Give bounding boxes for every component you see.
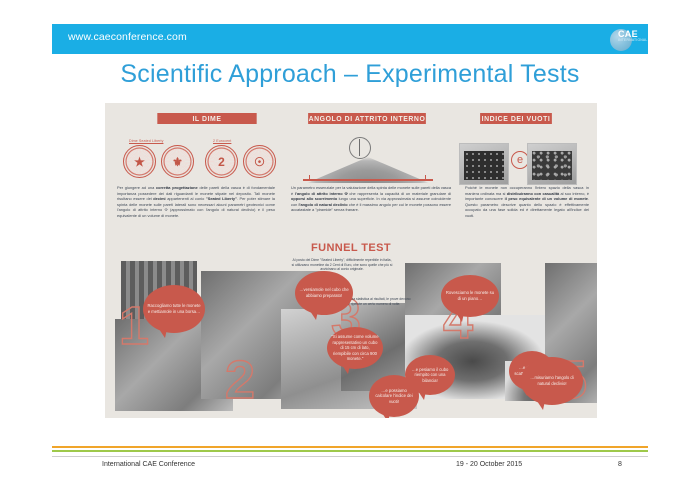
- section-heading-angolo: ANGOLO DI ATTRITO INTERNO: [308, 113, 426, 124]
- coin-2cent-reverse-icon: ☉: [243, 145, 276, 178]
- coin-icon-row: Dime Seated Liberty 2 Eurocent ★ ⚜ 2 ☉: [117, 139, 285, 179]
- ordered-coins-box: [459, 143, 509, 185]
- coin-dime-reverse-icon: ⚜: [161, 145, 194, 178]
- random-coins-box: [527, 143, 577, 185]
- funnel-bubble-6: …e pesiamo il cubo riempito con una bila…: [405, 355, 455, 395]
- void-index-graphic: e: [453, 135, 585, 191]
- coin-cone-graphic: [297, 137, 437, 187]
- coin-label-dime: Dime Seated Liberty: [129, 139, 163, 143]
- section-body-dime: Per giungere ad una corretta progettazio…: [117, 185, 275, 219]
- footer-page-number: 8: [618, 461, 622, 468]
- footer-conference-name: International CAE Conference: [102, 461, 195, 468]
- coin-2cent-obverse-icon: 2: [205, 145, 238, 178]
- funnel-test-heading: FUNNEL TEST: [105, 242, 597, 254]
- cone-tick-left: [309, 175, 310, 181]
- header-url: www.caeconference.com: [68, 31, 187, 43]
- footer-divider: [52, 456, 648, 457]
- coin-dime-obverse-icon: ★: [123, 145, 156, 178]
- cone-baseline: [303, 179, 433, 181]
- section-body-angolo: Un parametro essenziale per la valutazio…: [291, 185, 451, 213]
- section-heading-dime: IL DIME: [157, 113, 256, 124]
- section-body-vuoti: Poiché le monete non occuperanno l'inter…: [465, 185, 589, 219]
- section-heading-vuoti: INDICE DEI VUOTI: [480, 113, 552, 124]
- funnel-bubble-8: …misuriamo l'angolo di natural declivio!: [521, 357, 583, 405]
- footer-rule-green: [52, 450, 648, 452]
- page-title: Scientific Approach – Experimental Tests: [0, 60, 700, 89]
- cone-tick-right: [425, 175, 426, 181]
- angle-icon: [349, 137, 371, 159]
- logo-subtext: INTERNATIONAL: [618, 38, 647, 42]
- infographic-panel: IL DIME ANGOLO DI ATTRITO INTERNO INDICE…: [105, 103, 597, 418]
- funnel-bubble-2: …versiamole nel cubo che abbiamo prepara…: [295, 271, 353, 315]
- slide: www.caeconference.com CAE INTERNATIONAL …: [0, 0, 700, 494]
- footer-date: 19 - 20 October 2015: [456, 461, 522, 468]
- step-number-2: 2: [225, 353, 255, 407]
- header-bar: www.caeconference.com CAE INTERNATIONAL: [52, 24, 648, 54]
- cae-logo: CAE INTERNATIONAL: [610, 26, 638, 52]
- funnel-bubble-1: Raccogliamo tutte le monete e mettiamole…: [143, 285, 205, 333]
- funnel-bubble-5: "Si assume come volume rappresentativo u…: [327, 327, 383, 369]
- funnel-note-coins: Al posto del Dime "Seated Liberty", diff…: [291, 258, 393, 272]
- coin-label-eurocent: 2 Eurocent: [213, 139, 231, 143]
- funnel-bubble-4: Rovesciamo le monete su di un piano…: [441, 275, 499, 317]
- footer-rule-orange: [52, 446, 648, 448]
